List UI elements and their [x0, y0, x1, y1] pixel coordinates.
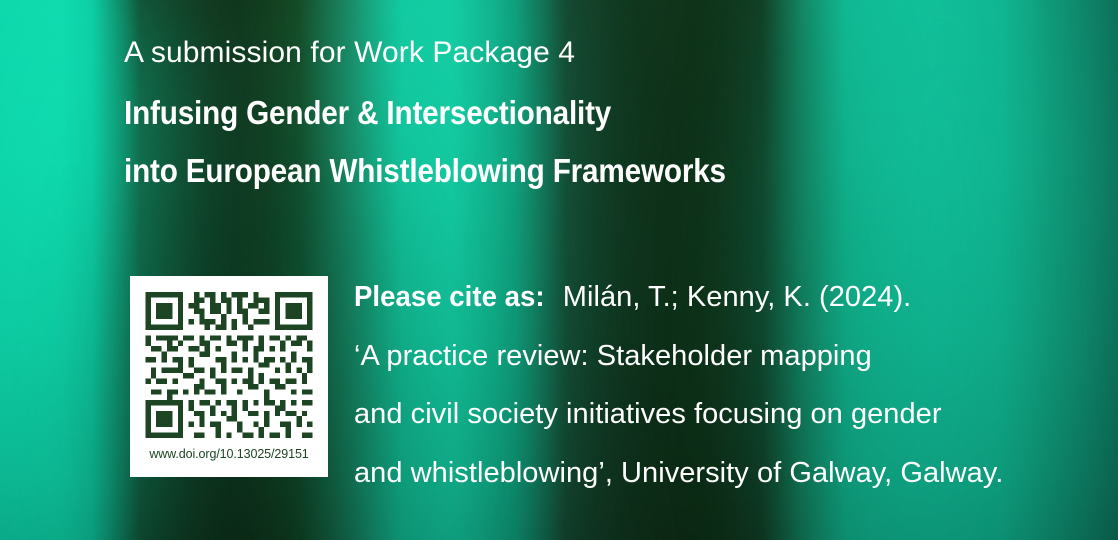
page-title-line-1: Infusing Gender & Intersectionality — [124, 92, 611, 134]
page-title-line-2: into European Whistleblowing Frameworks — [124, 150, 726, 192]
citation-label: Please cite as: — [354, 268, 545, 327]
citation-line-4: and whistleblowing’, University of Galwa… — [354, 444, 1094, 503]
citation-line-1: Please cite as: Milán, T.; Kenny, K. (20… — [354, 268, 1094, 327]
qr-code-card[interactable]: www.doi.org/10.13025/29151 — [130, 276, 328, 477]
qr-doi-caption: www.doi.org/10.13025/29151 — [149, 446, 308, 462]
citation-line-2: ‘A practice review: Stakeholder mapping — [354, 327, 1094, 386]
citation-line-3: and civil society initiatives focusing o… — [354, 385, 1094, 444]
submission-kicker: A submission for Work Package 4 — [124, 33, 575, 73]
citation-authors: Milán, T.; Kenny, K. (2024). — [555, 281, 912, 313]
citation-block: Please cite as: Milán, T.; Kenny, K. (20… — [354, 268, 1094, 502]
slide-content: A submission for Work Package 4 Infusing… — [0, 0, 1118, 540]
citation-slide: A submission for Work Package 4 Infusing… — [0, 0, 1118, 540]
qr-code-icon — [140, 286, 318, 444]
